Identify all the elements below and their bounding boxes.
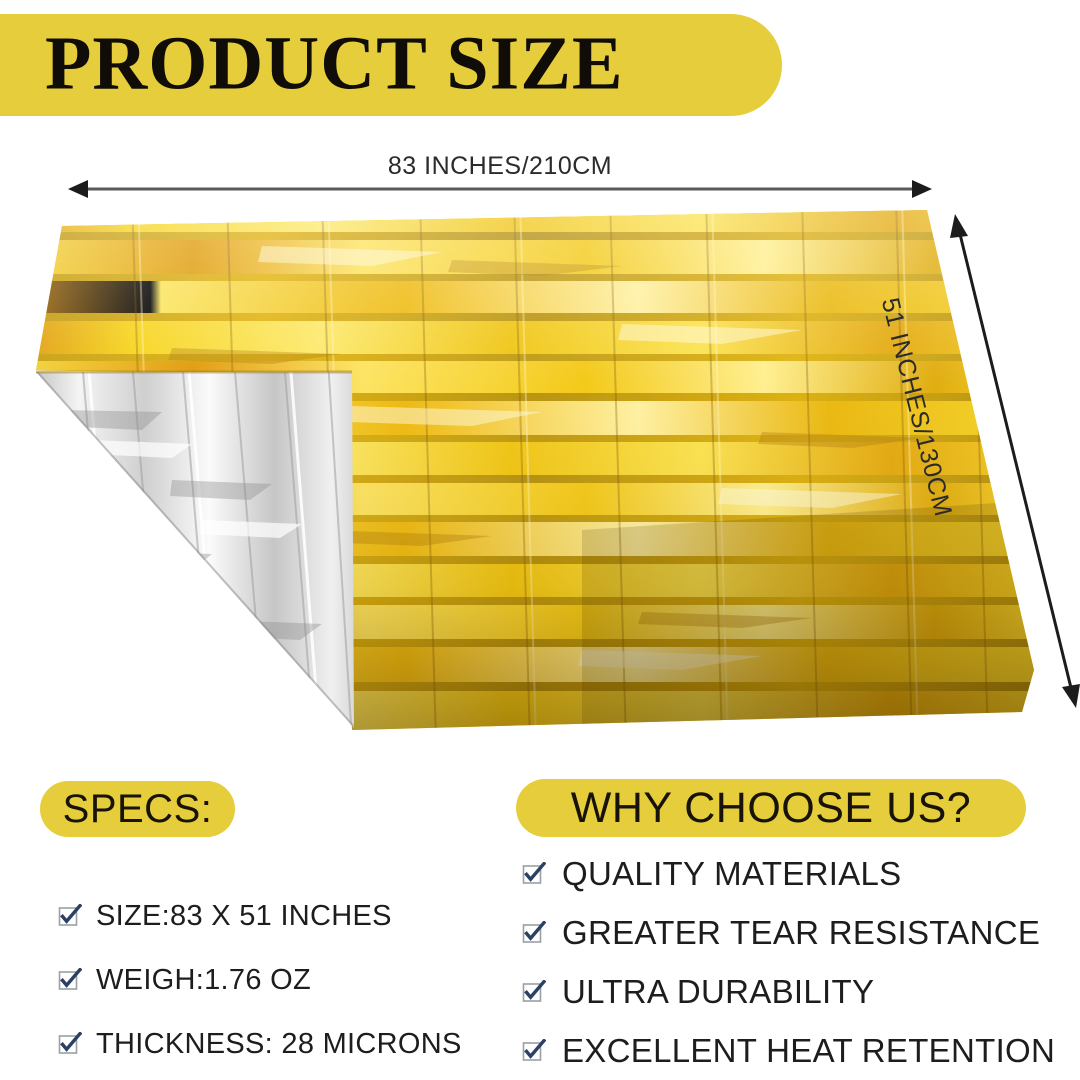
list-item-label: EXCELLENT HEAT RETENTION — [562, 1034, 1055, 1067]
specs-heading-badge: SPECS: — [40, 781, 235, 837]
list-item-label: SIZE:83 X 51 INCHES — [96, 902, 392, 931]
product-image-gold-emergency-blanket — [22, 200, 1042, 740]
list-item: EXCELLENT HEAT RETENTION — [522, 1021, 1055, 1080]
specs-list: SIZE:83 X 51 INCHES WEIGH:1.76 OZ THICKN… — [58, 884, 462, 1076]
list-item: QUALITY MATERIALS — [522, 844, 1055, 903]
dimension-height-arrow — [930, 200, 1080, 720]
list-item-label: THICKNESS: 28 MICRONS — [96, 1030, 462, 1059]
why-choose-us-heading-label: WHY CHOOSE US? — [571, 787, 971, 830]
list-item: THICKNESS: 28 MICRONS — [58, 1012, 462, 1076]
checkbox-checked-icon — [58, 904, 82, 928]
list-item-label: QUALITY MATERIALS — [562, 857, 901, 890]
list-item: ULTRA DURABILITY — [522, 962, 1055, 1021]
list-item-label: WEIGH:1.76 OZ — [96, 966, 311, 995]
specs-heading-label: SPECS: — [63, 789, 213, 829]
why-choose-us-list: QUALITY MATERIALS GREATER TEAR RESISTANC… — [522, 844, 1055, 1080]
list-item: SIZE:83 X 51 INCHES — [58, 884, 462, 948]
page-title: PRODUCT SIZE — [45, 25, 624, 101]
checkbox-checked-icon — [58, 968, 82, 992]
checkbox-checked-icon — [522, 862, 546, 886]
checkbox-checked-icon — [522, 921, 546, 945]
checkbox-checked-icon — [522, 980, 546, 1004]
dimension-width-arrow — [66, 172, 934, 206]
list-item: WEIGH:1.76 OZ — [58, 948, 462, 1012]
checkbox-checked-icon — [58, 1032, 82, 1056]
list-item-label: GREATER TEAR RESISTANCE — [562, 916, 1040, 949]
why-choose-us-heading-badge: WHY CHOOSE US? — [516, 779, 1026, 837]
blanket-illustration — [22, 200, 1042, 740]
list-item: GREATER TEAR RESISTANCE — [522, 903, 1055, 962]
header-banner: PRODUCT SIZE — [0, 14, 782, 116]
list-item-label: ULTRA DURABILITY — [562, 975, 874, 1008]
checkbox-checked-icon — [522, 1039, 546, 1063]
